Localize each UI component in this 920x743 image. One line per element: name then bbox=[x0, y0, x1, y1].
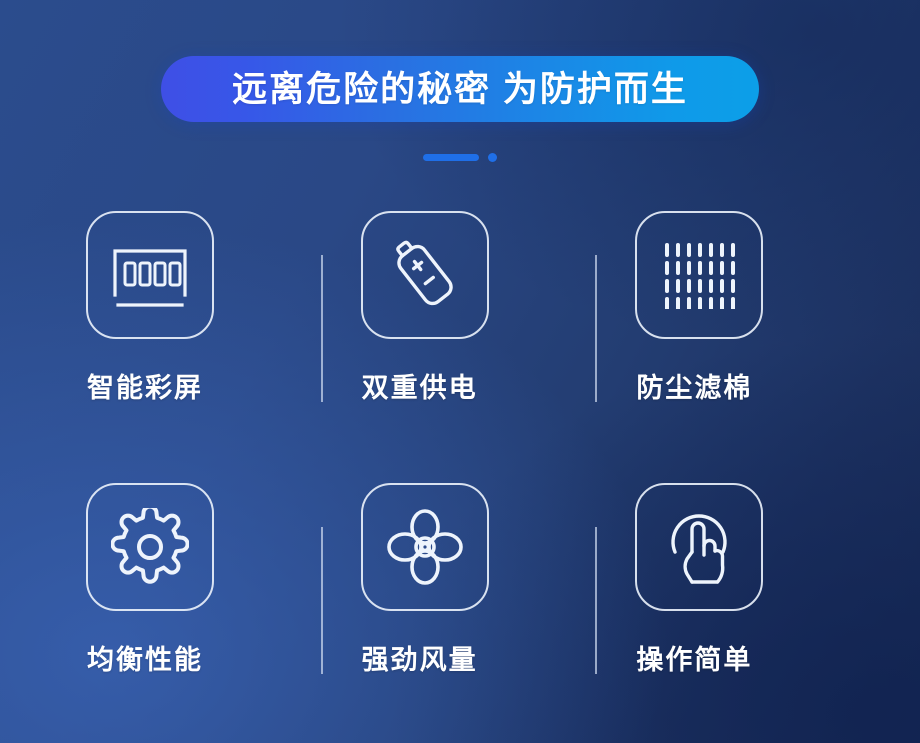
feature-item-strong-airflow: 强劲风量 bbox=[323, 477, 598, 743]
feature-label: 操作简单 bbox=[636, 647, 752, 674]
accent-divider bbox=[0, 153, 920, 162]
gear-icon bbox=[86, 483, 214, 611]
feature-grid: 智能彩屏 双重供电 bbox=[48, 205, 872, 743]
feature-item-dust-filter: 防尘滤棉 bbox=[597, 205, 872, 477]
digital-display-icon bbox=[86, 211, 214, 339]
touch-hand-icon bbox=[635, 483, 763, 611]
feature-label: 强劲风量 bbox=[362, 647, 478, 674]
filter-mesh-icon bbox=[635, 211, 763, 339]
feature-item-simple-operation: 操作简单 bbox=[597, 477, 872, 743]
accent-dot-icon bbox=[488, 153, 497, 162]
feature-page: 远离危险的秘密 为防护而生 bbox=[0, 0, 920, 743]
fan-icon bbox=[361, 483, 489, 611]
feature-item-smart-display: 智能彩屏 bbox=[48, 205, 323, 477]
feature-label: 智能彩屏 bbox=[87, 375, 203, 402]
feature-label: 双重供电 bbox=[362, 375, 478, 402]
feature-label: 均衡性能 bbox=[87, 647, 203, 674]
page-title: 远离危险的秘密 为防护而生 bbox=[232, 72, 688, 107]
battery-icon bbox=[361, 211, 489, 339]
title-banner: 远离危险的秘密 为防护而生 bbox=[161, 56, 759, 122]
feature-item-dual-power: 双重供电 bbox=[323, 205, 598, 477]
accent-bar-icon bbox=[423, 154, 479, 161]
title-banner-container: 远离危险的秘密 为防护而生 bbox=[0, 56, 920, 122]
feature-label: 防尘滤棉 bbox=[636, 375, 752, 402]
feature-item-balanced-performance: 均衡性能 bbox=[48, 477, 323, 743]
